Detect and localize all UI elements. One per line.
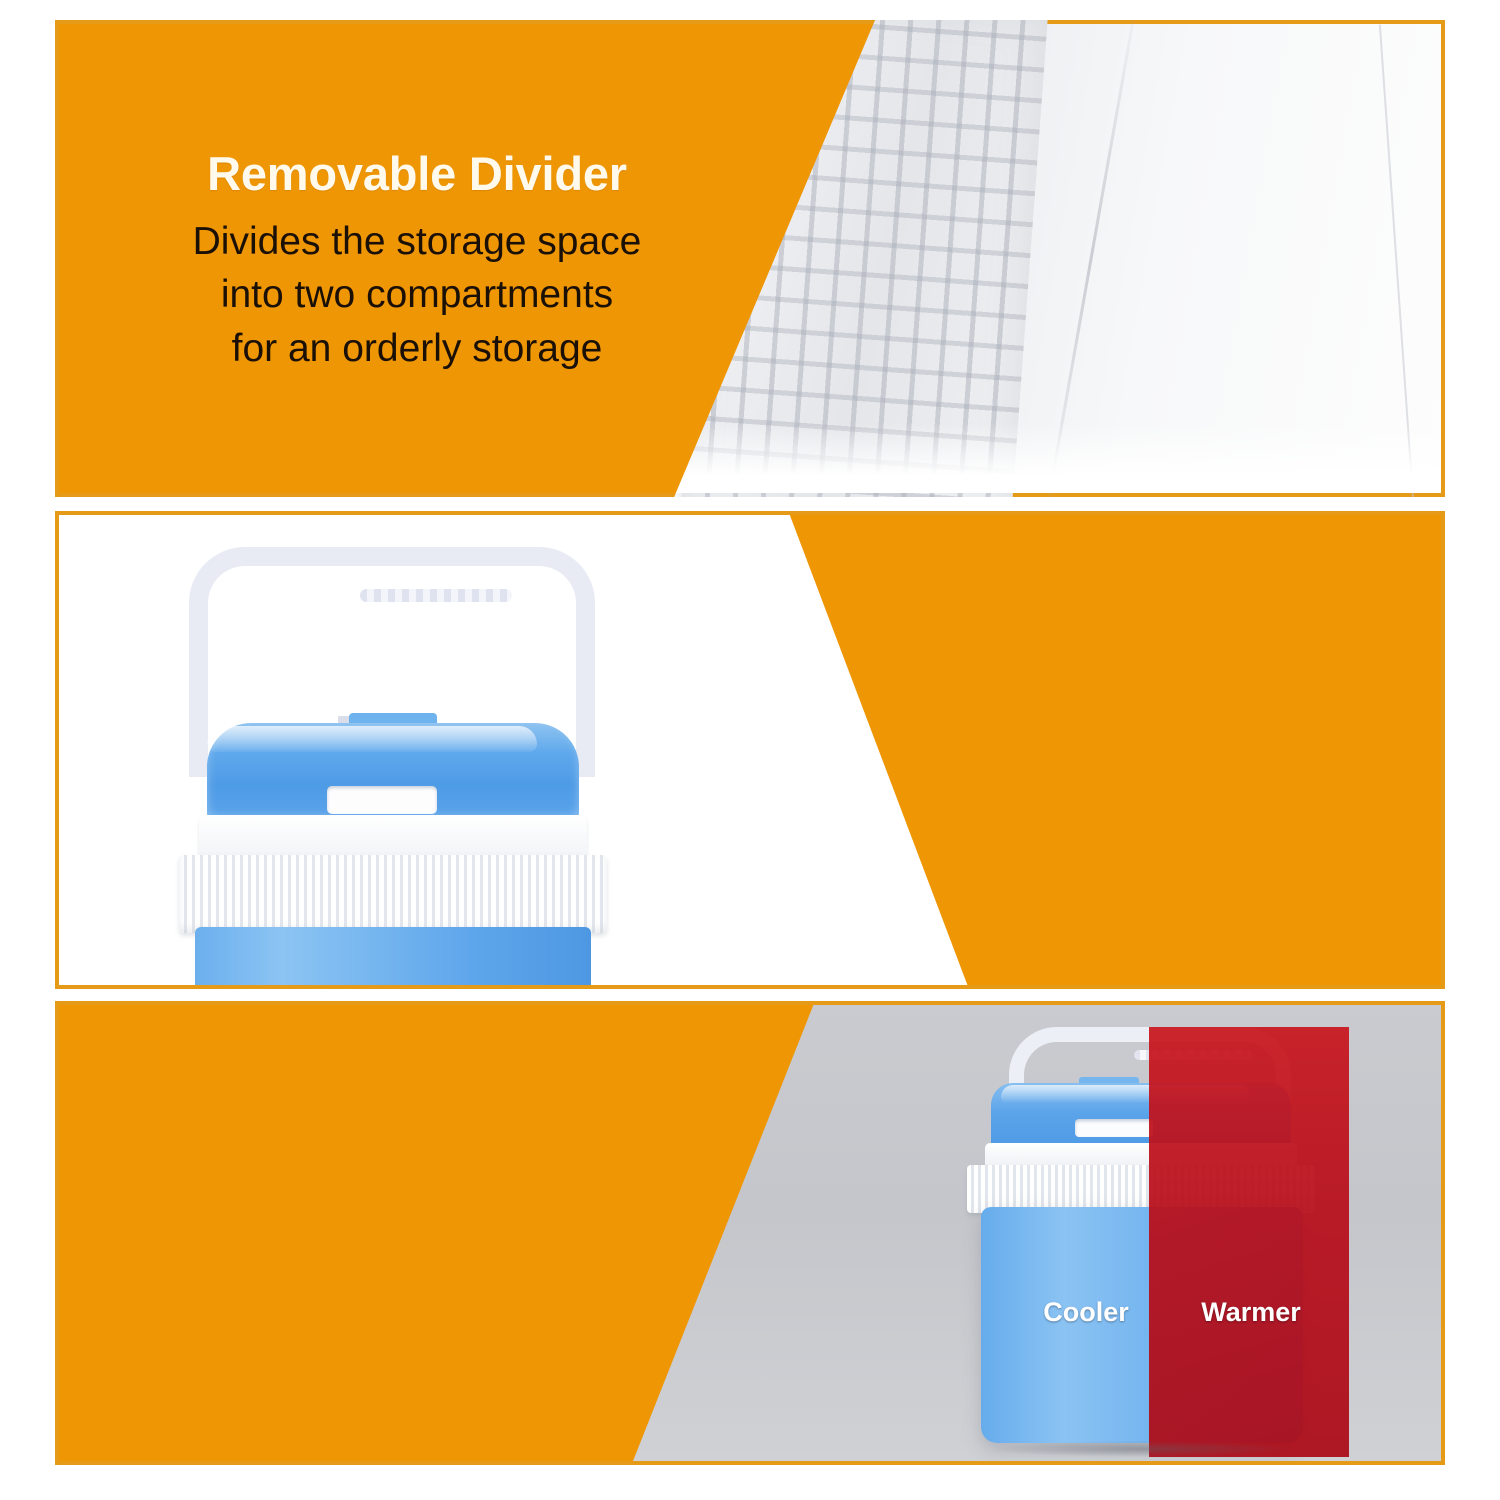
warmer-mode-label: Warmer: [1171, 1297, 1331, 1328]
cooler-warmer-photo: Cooler Warmer: [59, 1005, 1441, 1461]
product-drop-shadow: [993, 1441, 1293, 1457]
divider-text-block: Removable Divider Divides the storage sp…: [117, 148, 717, 376]
divider-body-line-3: for an orderly storage: [117, 322, 717, 376]
cooler-mode-label: Cooler: [1011, 1297, 1161, 1328]
divider-heading: Removable Divider: [117, 148, 717, 201]
infographic-sheet: Removable Divider Divides the storage sp…: [0, 0, 1500, 1500]
feature-panel-cooler-warmer: Cooler Warmer Cooler/Warmer & AC/DC Inpu…: [55, 1001, 1445, 1465]
handle-photo: [59, 515, 1441, 985]
divider-body-line-2: into two compartments: [117, 268, 717, 322]
split-color-cooler: Cooler Warmer: [949, 1027, 1349, 1457]
lid-finger-slot: [327, 786, 437, 814]
warmer-red-half-overlay: [1149, 1027, 1349, 1457]
feature-panel-foldable-handle: Sturdy Foldable Handle Ergonomically-des…: [55, 511, 1445, 989]
mode-labels: Cooler Warmer: [949, 1289, 1349, 1335]
cooler-product-front-view: [167, 523, 617, 989]
lid-gloss-highlight: [207, 726, 537, 752]
cooler-body: [195, 927, 591, 989]
handle-grip-ridges: [360, 589, 512, 602]
orange-text-wedge: [59, 1005, 879, 1461]
feature-panel-removable-divider: Removable Divider Divides the storage sp…: [55, 20, 1445, 497]
lid-finger-slot: [1075, 1119, 1153, 1137]
cooler-ribbed-band: [179, 855, 607, 933]
divider-body-line-1: Divides the storage space: [117, 215, 717, 269]
orange-text-wedge: [701, 515, 1441, 985]
